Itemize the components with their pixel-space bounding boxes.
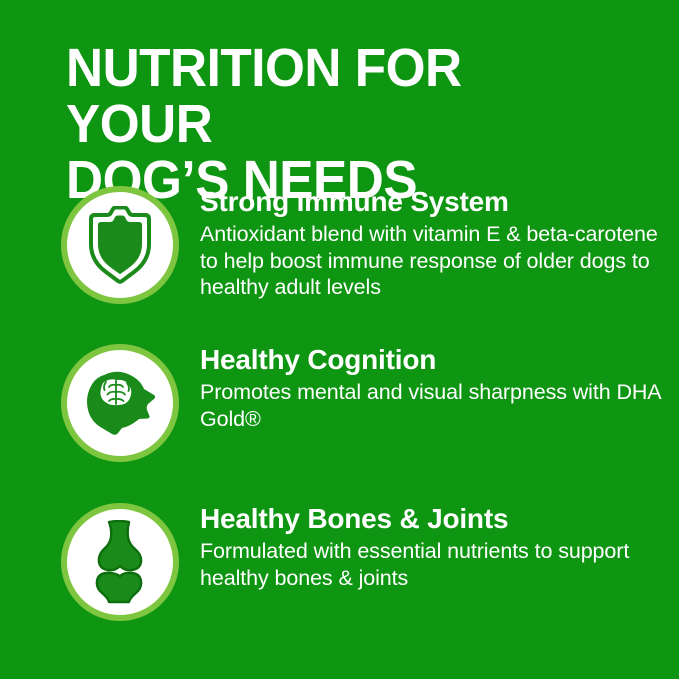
dog-head-brain-icon (84, 370, 156, 436)
benefit-row-cognition: Healthy Cognition Promotes mental and vi… (0, 344, 679, 462)
benefit-row-bones-joints: Healthy Bones & Joints Formulated with e… (0, 503, 679, 621)
benefit-text: Healthy Bones & Joints Formulated with e… (200, 503, 679, 591)
shield-icon (83, 206, 157, 284)
icon-circle (61, 344, 179, 462)
benefit-title: Healthy Bones & Joints (200, 503, 665, 535)
benefit-icon-wrap (60, 344, 180, 462)
icon-circle (61, 503, 179, 621)
page-title: Nutrition for your dog’s needs (66, 40, 598, 208)
icon-circle (61, 186, 179, 304)
benefit-body: Formulated with essential nutrients to s… (200, 538, 665, 591)
benefit-body: Antioxidant blend with vitamin E & beta-… (200, 221, 665, 301)
bone-joint-icon (91, 520, 149, 604)
benefit-text: Healthy Cognition Promotes mental and vi… (200, 344, 679, 432)
benefit-icon-wrap (60, 186, 180, 304)
nutrition-benefits-poster: Nutrition for your dog’s needs Strong Im… (0, 0, 679, 679)
benefit-title: Strong Immune System (200, 186, 665, 218)
benefit-text: Strong Immune System Antioxidant blend w… (200, 186, 679, 301)
benefit-row-immune: Strong Immune System Antioxidant blend w… (0, 186, 679, 304)
benefit-title: Healthy Cognition (200, 344, 665, 376)
benefit-icon-wrap (60, 503, 180, 621)
benefit-body: Promotes mental and visual sharpness wit… (200, 379, 665, 432)
